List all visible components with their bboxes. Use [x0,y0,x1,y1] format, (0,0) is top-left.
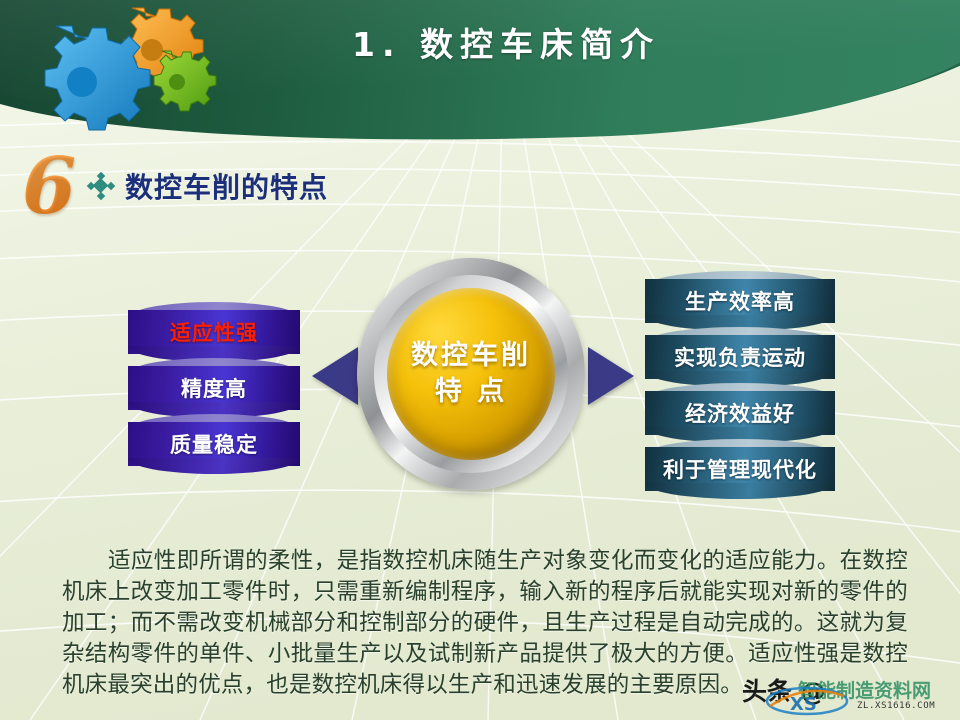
svg-text:XS: XS [790,694,817,715]
section-heading: 数控车削的特点 [88,166,328,206]
cylinder-label: 精度高 [128,366,300,410]
slide-canvas: XS [0,0,960,720]
diamond-bullet-icon [88,173,114,199]
triangle-left-icon [312,347,358,405]
cylinder-label: 利于管理现代化 [645,447,835,491]
watermark-logo-icon: XS [764,686,850,716]
gear-cluster-icon [14,0,224,146]
section-number-badge: 6 [14,150,84,228]
cylinder-label: 实现负责运动 [645,335,835,379]
oval-face: 数控车削 特 点 [387,288,555,460]
oval-label-line2: 特 点 [435,374,507,410]
triangle-right-icon [588,347,634,405]
watermark-url: ZL.XS1616.COM [857,701,935,711]
cylinder-label: 经济效益好 [645,391,835,435]
section-heading-label: 数控车削的特点 [125,166,328,206]
page-title: 1. 数控车床简介 [352,18,912,66]
cylinder-label: 质量稳定 [128,422,300,466]
watermark: 头条 @ 智能制造资料网 XS ZL.XS1616.COM [742,668,957,716]
cylinder-label: 适应性强 [128,310,300,354]
center-oval[interactable]: 数控车削 特 点 [357,258,585,490]
cylinder-label: 生产效率高 [645,279,835,323]
oval-label-line1: 数控车削 [411,338,531,374]
